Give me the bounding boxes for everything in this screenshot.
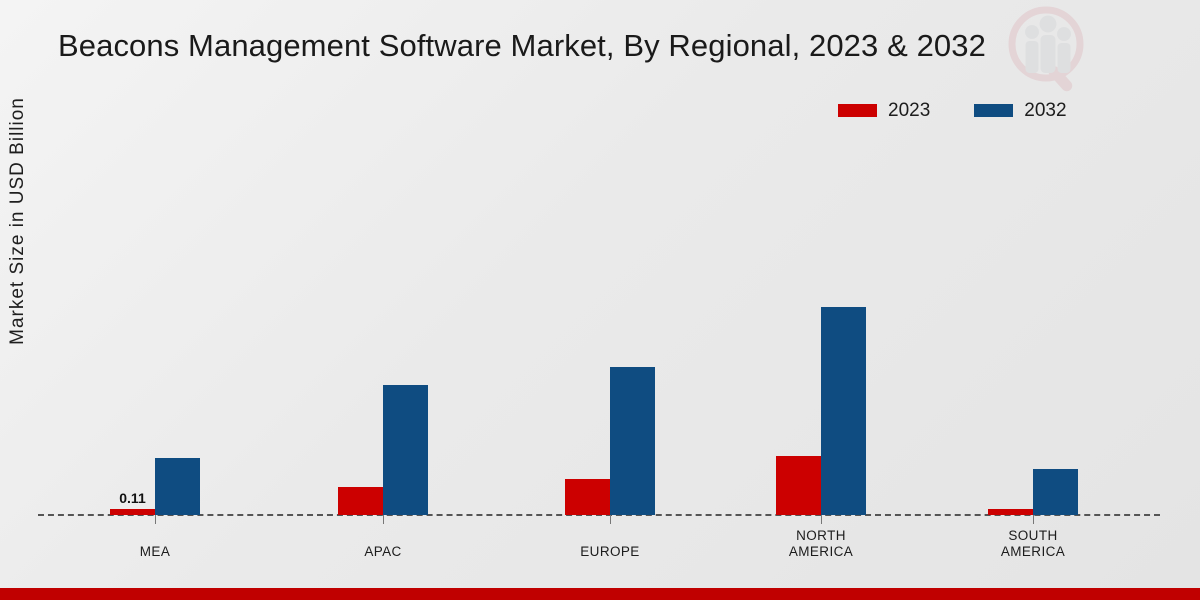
bar-group-mea: 0.11 <box>110 285 200 515</box>
bar-apac-2032[interactable] <box>383 385 428 515</box>
bar-mea-2032[interactable] <box>155 458 200 515</box>
x-label-north-america-line2: AMERICA <box>721 544 921 560</box>
bar-south-america-2032[interactable] <box>1033 469 1078 515</box>
x-label-mea: MEA <box>55 544 255 560</box>
bar-europe-2032[interactable] <box>610 367 655 515</box>
x-tick-north-america <box>821 515 822 524</box>
plot-area: 0.11 MEA APAC <box>0 0 1200 600</box>
bar-group-apac <box>338 285 428 515</box>
bar-group-north-america <box>776 285 866 515</box>
x-label-north-america: NORTH AMERICA <box>721 528 921 560</box>
bar-mea-2023[interactable]: 0.11 <box>110 509 155 515</box>
x-label-south-america-line2: AMERICA <box>933 544 1133 560</box>
x-label-south-america: SOUTH AMERICA <box>933 528 1133 560</box>
bar-label-mea-2023: 0.11 <box>119 490 145 506</box>
bar-group-south-america <box>988 285 1078 515</box>
chart-canvas: Beacons Management Software Market, By R… <box>0 0 1200 600</box>
x-label-south-america-line1: SOUTH <box>933 528 1133 544</box>
x-tick-europe <box>610 515 611 524</box>
x-label-apac-line1: APAC <box>283 544 483 560</box>
x-label-europe-line1: EUROPE <box>510 544 710 560</box>
footer-accent-bar <box>0 588 1200 600</box>
bar-europe-2023[interactable] <box>565 479 610 515</box>
x-tick-apac <box>383 515 384 524</box>
x-tick-mea <box>155 515 156 524</box>
x-label-apac: APAC <box>283 544 483 560</box>
x-label-north-america-line1: NORTH <box>721 528 921 544</box>
x-label-europe: EUROPE <box>510 544 710 560</box>
bar-group-europe <box>565 285 655 515</box>
bar-north-america-2023[interactable] <box>776 456 821 515</box>
x-label-mea-line1: MEA <box>55 544 255 560</box>
x-tick-south-america <box>1033 515 1034 524</box>
bar-apac-2023[interactable] <box>338 487 383 515</box>
bar-south-america-2023[interactable] <box>988 509 1033 515</box>
bar-north-america-2032[interactable] <box>821 307 866 515</box>
